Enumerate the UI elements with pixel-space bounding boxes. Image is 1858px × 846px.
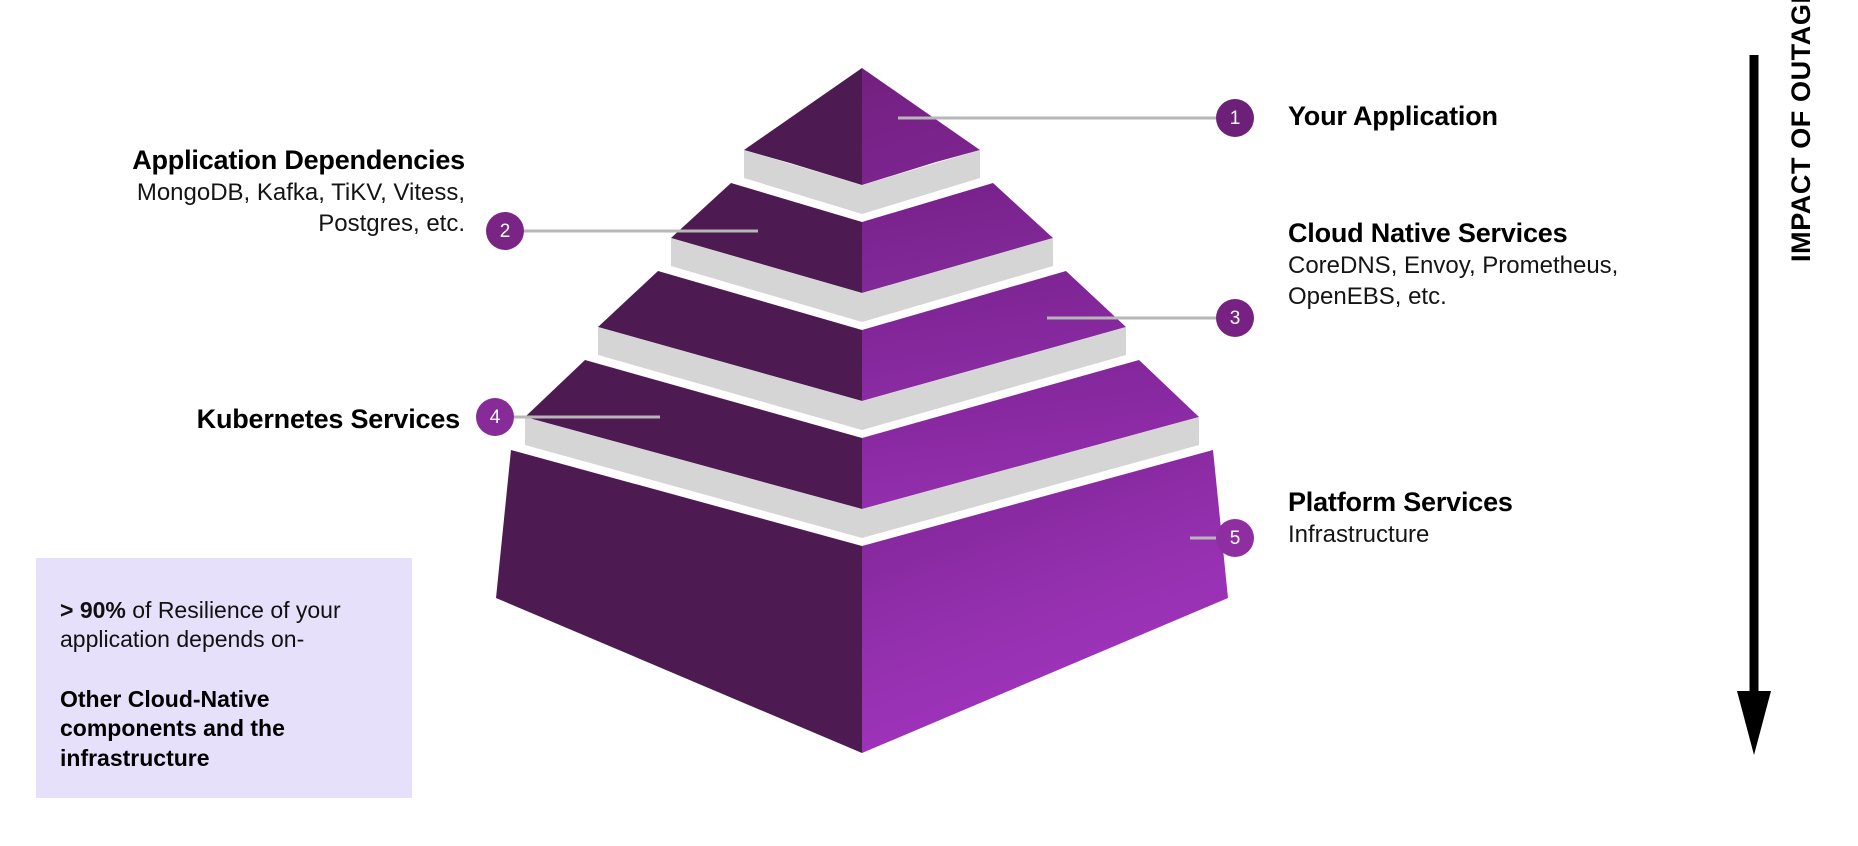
callout-3-title: Cloud Native Services (1288, 218, 1618, 250)
info-box-para2-line-3: infrastructure (60, 744, 310, 773)
layer-badge-2-number: 2 (500, 222, 511, 241)
tier-4-separator-band (525, 417, 1199, 538)
pyramid-tier-5[interactable] (496, 450, 1228, 753)
layer-badge-3-number: 3 (1230, 309, 1241, 328)
callout-cloud-native-services[interactable]: Cloud Native Services CoreDNS, Envoy, Pr… (1288, 218, 1618, 312)
tier-1-left-face-full (744, 68, 862, 185)
impact-of-outage-label: IMPACT OF OUTAGE (1786, 0, 1817, 262)
callout-3-subtitle-line-1: CoreDNS, Envoy, Prometheus, (1288, 250, 1618, 281)
tier-4-right-face (862, 360, 1199, 509)
callout-4-title: Kubernetes Services (30, 404, 460, 436)
tier-3-separator-band (598, 327, 1126, 430)
layer-badge-5[interactable]: 5 (1216, 519, 1254, 557)
info-box-line-1-rest: of Resilience of your (126, 597, 341, 623)
info-box-para2-line-2: components and the (60, 714, 310, 743)
callout-3-subtitle-line-2: OpenEBS, etc. (1288, 281, 1618, 312)
callout-2-subtitle-line-1: MongoDB, Kafka, TiKV, Vitess, (30, 177, 465, 208)
layer-badge-1[interactable]: 1 (1216, 99, 1254, 137)
pyramid-tier-4[interactable] (525, 360, 1199, 538)
callout-5-subtitle: Infrastructure (1288, 519, 1513, 550)
tier-5-left-face (496, 450, 862, 753)
callout-platform-services[interactable]: Platform Services Infrastructure (1288, 487, 1513, 550)
layer-badge-1-number: 1 (1230, 109, 1241, 128)
callout-application-dependencies[interactable]: Application Dependencies MongoDB, Kafka,… (30, 145, 465, 239)
layer-badge-2[interactable]: 2 (486, 212, 524, 250)
info-box-paragraph-2: Other Cloud-Native components and the in… (60, 685, 310, 773)
diagram-canvas: 1 2 3 4 5 Your Application Application D… (0, 0, 1858, 846)
tier-2-separator-band (671, 238, 1053, 322)
callout-your-application[interactable]: Your Application (1288, 101, 1498, 133)
pyramid-tier-2[interactable] (671, 183, 1053, 322)
down-arrow-icon (1737, 691, 1771, 755)
layer-badge-4[interactable]: 4 (476, 398, 514, 436)
pyramid-tier-3[interactable] (598, 271, 1126, 430)
tier-2-left-face (671, 183, 862, 293)
info-box-line-2: application depends on- (60, 625, 382, 654)
callout-2-subtitle-line-2: Postgres, etc. (30, 208, 465, 239)
tier-1-separator-band (744, 150, 980, 214)
layer-badge-4-number: 4 (490, 408, 501, 427)
pyramid-tier-1[interactable] (744, 68, 980, 214)
tier-5-right-face (862, 450, 1228, 753)
layer-badge-5-number: 5 (1230, 529, 1241, 548)
tier-3-left-face (598, 271, 862, 401)
layer-badge-3[interactable]: 3 (1216, 299, 1254, 337)
tier-4-left-face (525, 360, 862, 509)
info-box-line-1: > 90% of Resilience of your (60, 596, 382, 625)
callout-5-title: Platform Services (1288, 487, 1513, 519)
callout-2-title: Application Dependencies (30, 145, 465, 177)
tier-2-right-face (862, 183, 1053, 293)
callout-1-title: Your Application (1288, 101, 1498, 133)
callout-kubernetes-services[interactable]: Kubernetes Services (30, 404, 460, 436)
resilience-info-box: > 90% of Resilience of your application … (36, 558, 412, 798)
tier-1-right-face (862, 68, 980, 185)
info-box-para2-line-1: Other Cloud-Native (60, 685, 310, 714)
tier-3-right-face (862, 271, 1126, 401)
tier-1-left-face (792, 68, 862, 185)
info-box-emphasis: > 90% (60, 597, 126, 623)
